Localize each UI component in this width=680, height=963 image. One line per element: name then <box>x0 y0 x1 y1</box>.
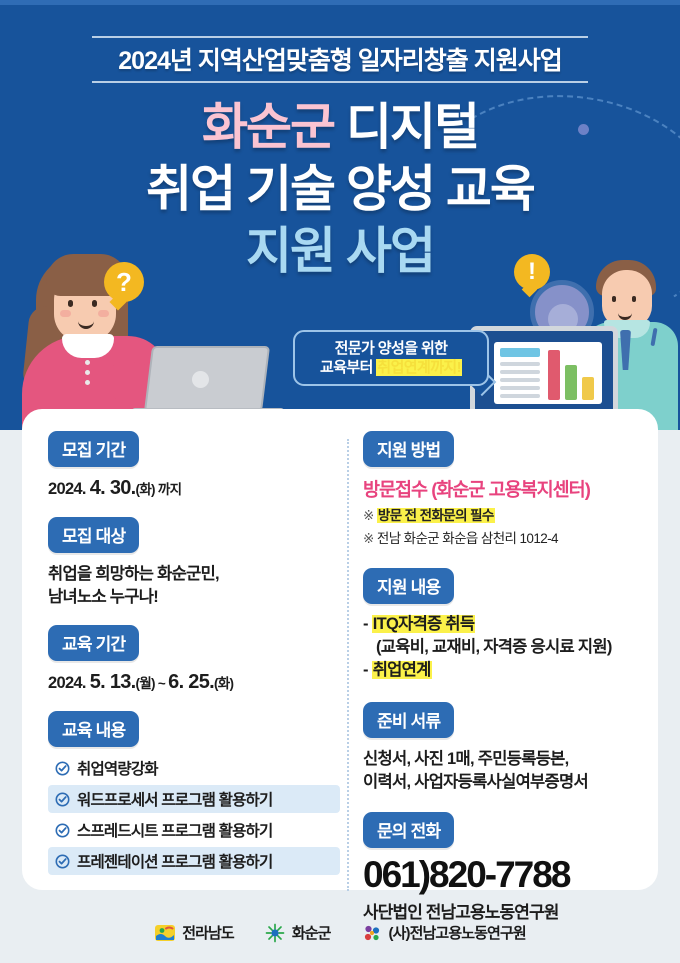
support-item-1-detail: (교육비, 교재비, 자격증 응시료 지원) <box>363 636 641 659</box>
recruit-period-date: 4. 30. <box>90 477 136 499</box>
man-eye-right <box>632 296 636 302</box>
list-item: 스프레드시트 프로그램 활용하기 <box>48 816 340 844</box>
badge-recruit-period: 모집 기간 <box>48 431 139 467</box>
logo-jeonnam-labor-institute: (사)전남고용노동연구원 <box>361 922 526 944</box>
woman-blush-left <box>60 310 71 317</box>
chart-bar <box>582 377 594 400</box>
title-line-2: 취업 기술 양성 교육 <box>0 158 680 220</box>
chart-bar <box>565 365 577 400</box>
support-item-2: - 취업연계 <box>363 659 641 682</box>
jeollanamdo-emblem-icon <box>154 922 176 944</box>
document-text-line <box>500 386 540 390</box>
slogan-bubble: 전문가 양성을 위한 교육부터 취업연계까지! <box>293 330 489 386</box>
logo-hwasun-gun: 화순군 <box>264 922 331 944</box>
left-details-column: 모집 기간 2024. 4. 30.(화) 까지 모집 대상 취업을 희망하는 … <box>48 431 340 891</box>
support-item-1-dash: - <box>363 615 372 633</box>
education-period-end: 6. 25. <box>168 671 214 693</box>
recruit-target-value: 취업을 희망하는 화순군민, 남녀노소 누구나! <box>48 563 340 609</box>
section-education-period: 교육 기간 2024. 5. 13.(월) ~ 6. 25.(화) <box>48 625 340 695</box>
illustration-woman-laptop: ? <box>14 248 294 423</box>
badge-education-content: 교육 내용 <box>48 711 139 747</box>
application-note-2: ※ 전남 화순군 화순읍 삼천리 1012-4 <box>363 529 641 548</box>
support-item-2-dash: - <box>363 661 372 679</box>
check-circle-icon <box>55 854 70 869</box>
note-marker: ※ <box>363 531 377 546</box>
note-2-text: 전남 화순군 화순읍 삼천리 1012-4 <box>377 531 558 546</box>
recruit-target-line-2: 남녀노소 누구나! <box>48 586 340 609</box>
document-text-line <box>500 370 540 374</box>
section-support-content: 지원 내용 - ITQ자격증 취득 (교육비, 교재비, 자격증 응시료 지원)… <box>363 568 641 682</box>
badge-education-period: 교육 기간 <box>48 625 139 661</box>
list-item: 취업역량강화 <box>48 754 340 782</box>
woman-blush-right <box>98 310 109 317</box>
section-recruit-target: 모집 대상 취업을 희망하는 화순군민, 남녀노소 누구나! <box>48 517 340 609</box>
check-circle-icon <box>55 823 70 838</box>
chart-bar <box>548 350 560 400</box>
list-item-label: 취업역량강화 <box>77 757 158 779</box>
check-circle-icon <box>55 792 70 807</box>
man-eye-left <box>612 296 616 302</box>
badge-support-content: 지원 내용 <box>363 568 454 604</box>
support-content-list: - ITQ자격증 취득 (교육비, 교재비, 자격증 응시료 지원) - 취업연… <box>363 613 641 682</box>
list-item-label: 프레젠테이션 프로그램 활용하기 <box>77 850 272 872</box>
education-period-prefix: 2024. <box>48 674 90 692</box>
badge-application-method: 지원 방법 <box>363 431 454 467</box>
badge-contact-phone: 문의 전화 <box>363 812 454 848</box>
hwasun-emblem-icon <box>264 922 286 944</box>
badge-recruit-target: 모집 대상 <box>48 517 139 553</box>
kicker-rule-bottom <box>92 81 588 83</box>
recruit-target-line-1: 취업을 희망하는 화순군민, <box>48 563 340 586</box>
section-education-content: 교육 내용 취업역량강화 워드프로세서 프로그램 활용하기 <box>48 711 340 875</box>
application-note-1: ※ 방문 전 전화문의 필수 <box>363 506 641 525</box>
list-item-label: 스프레드시트 프로그램 활용하기 <box>77 819 272 841</box>
note-marker: ※ <box>363 508 377 523</box>
education-content-list: 취업역량강화 워드프로세서 프로그램 활용하기 스프레드시트 프로그램 활용하기 <box>48 754 340 875</box>
education-period-start-day: (월) ~ <box>136 676 169 691</box>
badge-required-documents: 준비 서류 <box>363 702 454 738</box>
question-mark-icon: ? <box>104 262 144 302</box>
list-item: 워드프로세서 프로그램 활용하기 <box>48 785 340 813</box>
documents-line-2: 이력서, 사업자등록사실여부증명서 <box>363 771 641 794</box>
institute-emblem-icon <box>361 922 383 944</box>
education-period-start: 5. 13. <box>90 671 136 693</box>
support-item-2-label: 취업연계 <box>372 661 432 679</box>
recruit-period-prefix: 2024. <box>48 480 90 498</box>
documents-line-1: 신청서, 사진 1매, 주민등록등본, <box>363 748 641 771</box>
woman-button-2 <box>85 370 90 375</box>
question-bubble-label: ? <box>104 262 144 302</box>
footer-logo-bar: 전라남도 화순군 <box>0 902 680 963</box>
column-divider <box>347 439 349 891</box>
slogan-line-2: 교육부터 취업연계까지! <box>295 358 487 378</box>
support-item-1-label: ITQ자격증 취득 <box>372 615 476 633</box>
woman-button-1 <box>85 360 90 365</box>
title-digital: 디지털 <box>346 99 478 155</box>
education-period-end-day: (화) <box>214 676 233 691</box>
recruit-period-suffix: (화) 까지 <box>136 482 182 497</box>
section-application-method: 지원 방법 방문접수 (화순군 고용복지센터) ※ 방문 전 전화문의 필수 ※… <box>363 431 641 548</box>
poster-root: 2024년 지역산업맞춤형 일자리창출 지원사업 화순군 디지털 취업 기술 양… <box>0 0 680 963</box>
list-item-label: 워드프로세서 프로그램 활용하기 <box>77 788 272 810</box>
document-text-line <box>500 394 540 398</box>
logo-label: 화순군 <box>292 922 331 943</box>
laptop-logo-dot <box>192 371 209 388</box>
title-line-1: 화순군 디지털 <box>0 96 680 158</box>
program-kicker: 2024년 지역산업맞춤형 일자리창출 지원사업 <box>0 41 680 77</box>
note-1-text: 방문 전 전화문의 필수 <box>377 508 495 523</box>
bar-chart-icon <box>548 348 600 400</box>
contact-phone-number[interactable]: 061)820-7788 <box>363 854 641 896</box>
right-details-column: 지원 방법 방문접수 (화순군 고용복지센터) ※ 방문 전 전화문의 필수 ※… <box>363 431 641 939</box>
hero-panel: 2024년 지역산업맞춤형 일자리창출 지원사업 화순군 디지털 취업 기술 양… <box>0 0 680 430</box>
title-region-name: 화순군 <box>202 99 334 155</box>
section-recruit-period: 모집 기간 2024. 4. 30.(화) 까지 <box>48 431 340 501</box>
logo-jeollanamdo: 전라남도 <box>154 922 234 944</box>
document-text-line <box>500 378 540 382</box>
document-heading-bar <box>500 348 540 357</box>
woman-button-3 <box>85 380 90 385</box>
document-text-line <box>500 362 540 366</box>
support-item-1: - ITQ자격증 취득 <box>363 613 641 636</box>
slogan-line-2-plain: 교육부터 <box>320 359 373 376</box>
required-documents-value: 신청서, 사진 1매, 주민등록등본, 이력서, 사업자등록사실여부증명서 <box>363 748 641 794</box>
recruit-period-value: 2024. 4. 30.(화) 까지 <box>48 477 340 501</box>
list-item: 프레젠테이션 프로그램 활용하기 <box>48 847 340 875</box>
woman-eye-right <box>92 300 97 307</box>
details-card: 모집 기간 2024. 4. 30.(화) 까지 모집 대상 취업을 희망하는 … <box>22 409 658 890</box>
section-required-documents: 준비 서류 신청서, 사진 1매, 주민등록등본, 이력서, 사업자등록사실여부… <box>363 702 641 794</box>
slogan-line-1: 전문가 양성을 위한 <box>295 339 487 358</box>
logo-label: (사)전남고용노동연구원 <box>389 922 526 943</box>
logo-label: 전라남도 <box>182 922 234 943</box>
check-circle-icon <box>55 761 70 776</box>
hero-top-accent-line <box>0 0 680 5</box>
application-method-value: 방문접수 (화순군 고용복지센터) <box>363 476 641 502</box>
slogan-line-2-accent: 취업연계까지! <box>376 359 462 376</box>
education-period-value: 2024. 5. 13.(월) ~ 6. 25.(화) <box>48 671 340 695</box>
woman-eye-left <box>68 300 73 307</box>
kicker-rule-top <box>92 36 588 38</box>
